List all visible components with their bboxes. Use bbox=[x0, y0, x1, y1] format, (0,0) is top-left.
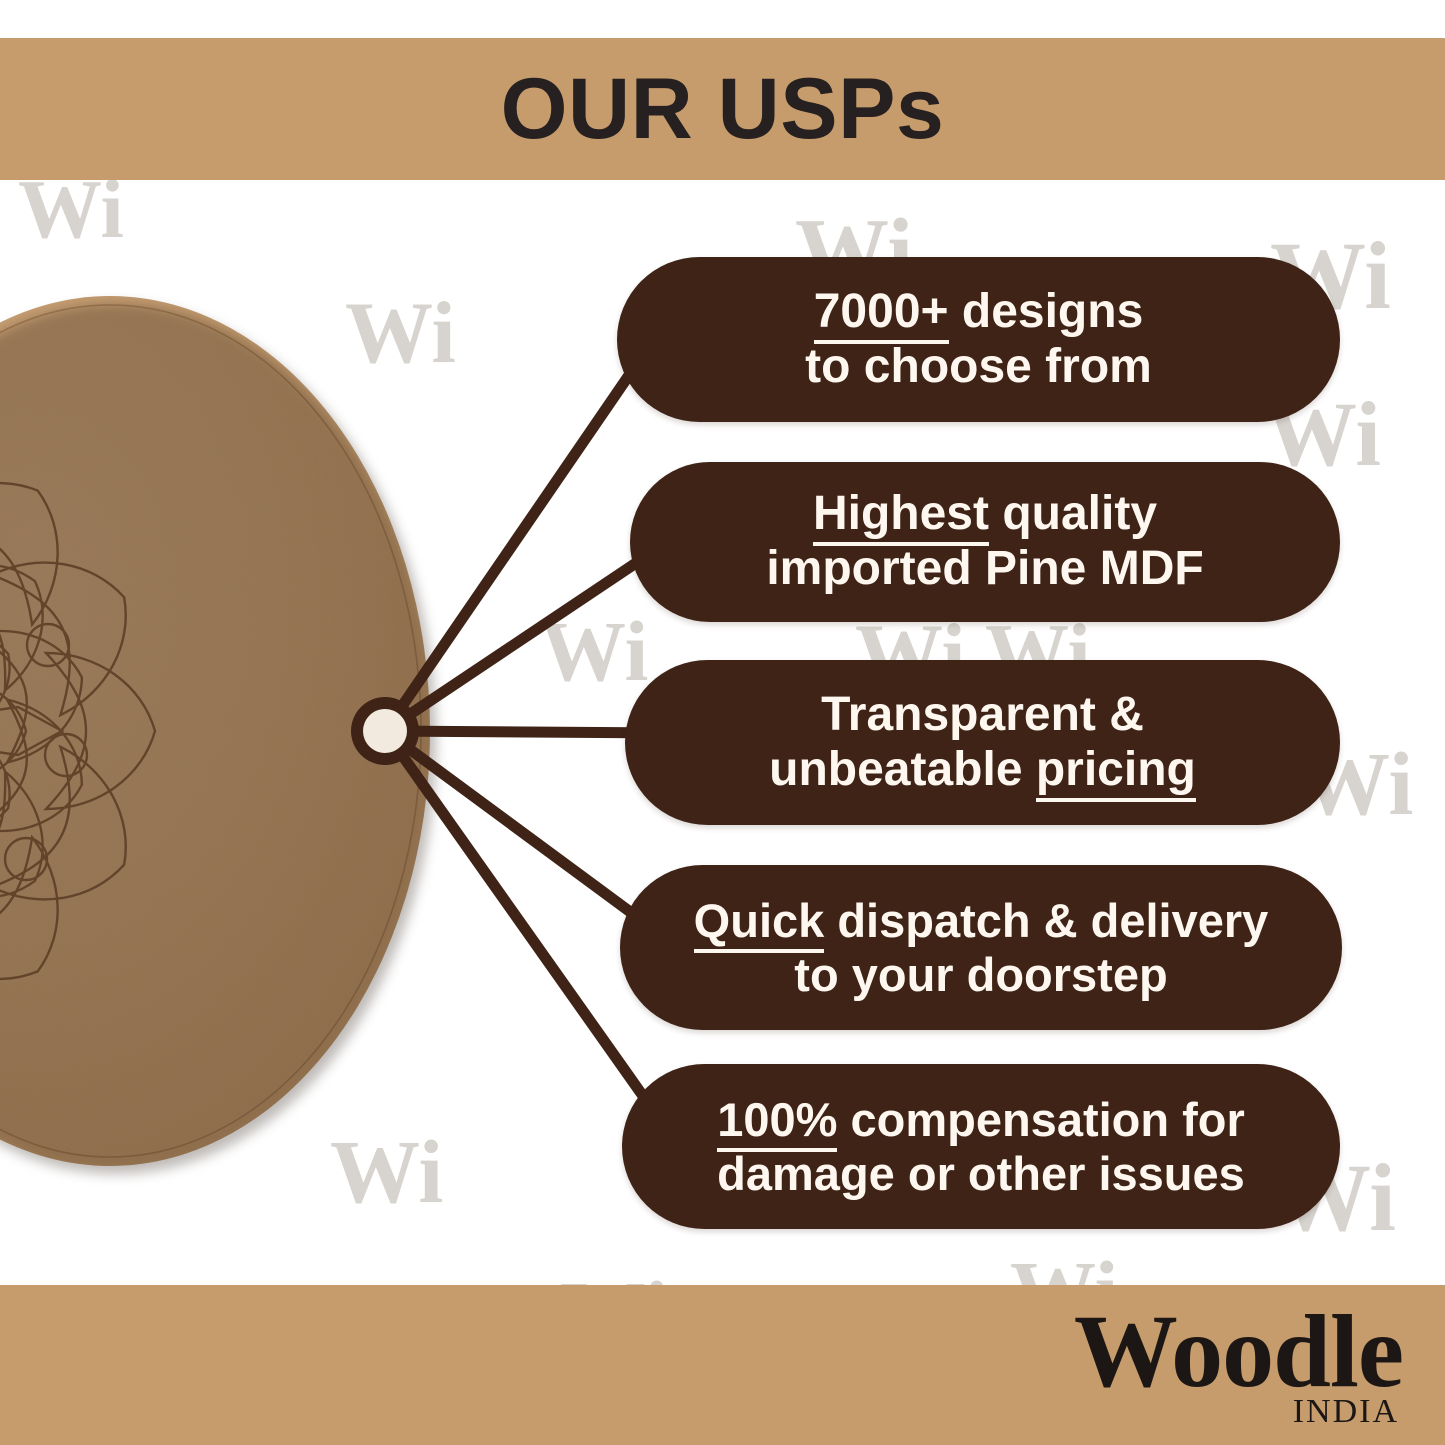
watermark-wi: Wi bbox=[18, 168, 124, 252]
usp-line-2: imported Pine MDF bbox=[766, 542, 1203, 597]
usp-pill-pricing[interactable]: Transparent & unbeatable pricing bbox=[625, 660, 1340, 825]
usp-pill-quality[interactable]: Highest quality imported Pine MDF bbox=[630, 462, 1340, 622]
usp-line-1: Transparent & bbox=[821, 688, 1144, 743]
usp-pill-designs[interactable]: 7000+ designs to choose from bbox=[617, 257, 1340, 422]
usp-line1-rest: designs bbox=[949, 285, 1144, 338]
logo-subtitle: INDIA bbox=[1293, 1393, 1399, 1431]
infographic-canvas: WiWiWiWiWiWiWiWiWiWiWiWiWiWiWi bbox=[0, 0, 1445, 1445]
usp-highlight: 7000+ bbox=[814, 285, 949, 344]
logo-wordmark: Woodle bbox=[1074, 1304, 1403, 1400]
usp-line-1: 7000+ designs bbox=[814, 285, 1144, 340]
watermark-wi: Wi bbox=[540, 608, 648, 694]
usp-line-1: Highest quality bbox=[813, 487, 1157, 542]
usp-highlight: pricing bbox=[1036, 743, 1196, 802]
usp-line1-rest: compensation for bbox=[837, 1093, 1244, 1146]
brand-logo: Woodle INDIA bbox=[1003, 1300, 1403, 1435]
usp-line-2: damage or other issues bbox=[717, 1147, 1245, 1201]
usp-line-2: to your doorstep bbox=[794, 948, 1167, 1002]
page-title: OUR USPs bbox=[0, 38, 1445, 180]
usp-pill-compensation[interactable]: 100% compensation for damage or other is… bbox=[622, 1064, 1340, 1229]
usp-line-2: to choose from bbox=[805, 340, 1152, 395]
usp-line-1: Quick dispatch & delivery bbox=[694, 894, 1269, 948]
usp-line1-rest: dispatch & delivery bbox=[824, 894, 1268, 947]
usp-highlight: Quick bbox=[694, 894, 825, 953]
mandala-mdf-board bbox=[0, 296, 440, 1176]
usp-line1-rest: quality bbox=[989, 487, 1157, 540]
usp-pill-dispatch[interactable]: Quick dispatch & delivery to your doorst… bbox=[620, 865, 1342, 1030]
usp-highlight: Highest bbox=[813, 487, 989, 546]
usp-line-1: 100% compensation for bbox=[717, 1093, 1245, 1147]
usp-line2-prefix: unbeatable bbox=[769, 743, 1036, 796]
usp-highlight: 100% bbox=[717, 1093, 837, 1152]
usp-line-2: unbeatable pricing bbox=[769, 743, 1196, 798]
